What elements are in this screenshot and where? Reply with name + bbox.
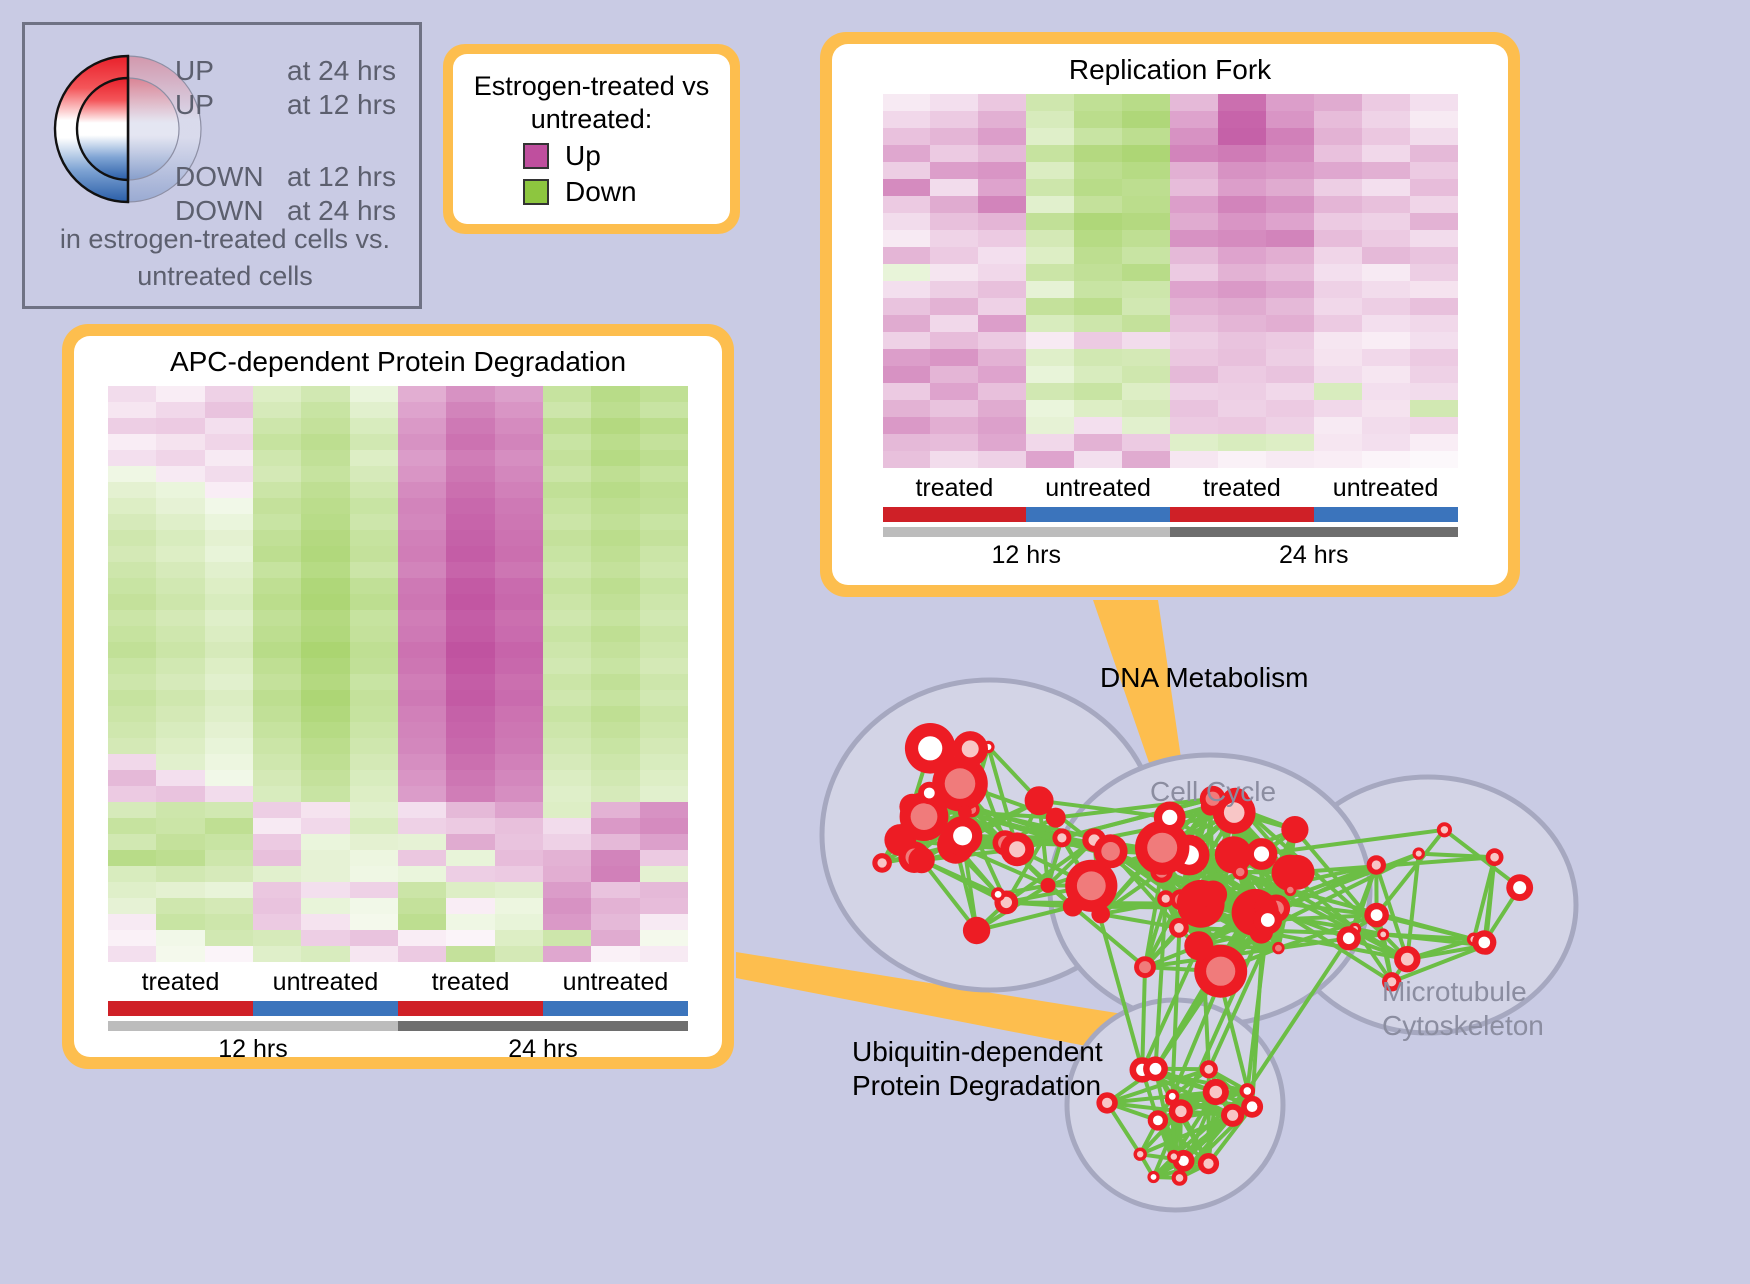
heatmap-cell (1410, 111, 1458, 128)
heatmap-cell (883, 349, 931, 366)
heatmap-cell (591, 722, 639, 738)
cluster-label-dna-metabolism: DNA Metabolism (1100, 662, 1309, 694)
heatmap-cell (591, 946, 639, 962)
heatmap-cell (301, 818, 349, 834)
heatmap-cell (205, 434, 253, 450)
heatmap-cell (205, 770, 253, 786)
heatmap-cell (108, 786, 156, 802)
heatmap-cell (253, 850, 301, 866)
condition-bar-segment (108, 1001, 253, 1016)
heatmap-cell (108, 658, 156, 674)
heatmap-cell (301, 738, 349, 754)
heatmap-cell (543, 898, 591, 914)
heatmap-cell (543, 658, 591, 674)
heatmap-cell (156, 898, 204, 914)
heatmap-cell (1170, 94, 1218, 111)
heatmap-cell (1410, 179, 1458, 196)
heatmap-cell (591, 562, 639, 578)
updown-legend-box: Estrogen-treated vs untreated: Up Down (443, 44, 740, 234)
heatmap-cell (1314, 298, 1362, 315)
heatmap-cell (883, 111, 931, 128)
heatmap-cell (978, 400, 1026, 417)
network-node-core (1490, 853, 1499, 862)
heatmap-cell (978, 349, 1026, 366)
heatmap-cell (446, 418, 494, 434)
heatmap-cell (1266, 264, 1314, 281)
network-node[interactable] (1281, 816, 1308, 843)
heatmap-cell (543, 562, 591, 578)
heatmap-cell (495, 690, 543, 706)
heatmap-cell (978, 417, 1026, 434)
heatmap-cell (1314, 383, 1362, 400)
heatmap-cell (543, 802, 591, 818)
heatmap-cell (640, 770, 688, 786)
heatmap-cell (1362, 451, 1410, 468)
heatmap-cell (301, 770, 349, 786)
heatmap-cell (301, 914, 349, 930)
heatmap-cell (1122, 383, 1170, 400)
heatmap-cell (301, 850, 349, 866)
heatmap-cell (495, 450, 543, 466)
heatmap-cell (156, 642, 204, 658)
heatmap-cell (1218, 349, 1266, 366)
network-node-core (1244, 1087, 1252, 1095)
heatmap-cell (640, 514, 688, 530)
heatmap-cell (495, 578, 543, 594)
heatmap-cell (156, 818, 204, 834)
heatmap-cell (301, 514, 349, 530)
heatmap-cell (253, 770, 301, 786)
time-bar-segment (1170, 527, 1458, 537)
heatmap-cell (1362, 128, 1410, 145)
heatmap-cell (205, 418, 253, 434)
network-node[interactable] (1280, 855, 1315, 890)
network-node-core (1175, 1106, 1186, 1117)
network-node-core (1287, 887, 1294, 894)
heatmap-cell (1074, 128, 1122, 145)
heatmap-cell (640, 898, 688, 914)
heatmap-cell (1266, 349, 1314, 366)
heatmap-cell (978, 213, 1026, 230)
heatmap-cell (591, 386, 639, 402)
network-node[interactable] (963, 917, 990, 944)
network-node[interactable] (1041, 878, 1056, 893)
heatmap-cell (495, 642, 543, 658)
heatmap-cell (591, 802, 639, 818)
heatmap-cell (446, 434, 494, 450)
heatmap-cell (1122, 111, 1170, 128)
heatmap-cell (350, 802, 398, 818)
heatmap-cell (156, 930, 204, 946)
network-node-core (1372, 860, 1381, 869)
network-node-core (953, 826, 972, 845)
heatmap-cell (1314, 213, 1362, 230)
heatmap-cell (253, 674, 301, 690)
heatmap-cell (108, 930, 156, 946)
heatmap-cell (543, 402, 591, 418)
heatmap-cell (205, 738, 253, 754)
heatmap-cell (1122, 128, 1170, 145)
heatmap-cell (350, 706, 398, 722)
heatmap-cell (883, 264, 931, 281)
network-node[interactable] (1025, 786, 1054, 815)
time-label: 12 hrs (108, 1031, 398, 1064)
heatmap-cell (930, 196, 978, 213)
network-node-core (1206, 957, 1235, 986)
heatmap-cell (543, 738, 591, 754)
heatmap-cell (446, 754, 494, 770)
heatmap-cell (1362, 264, 1410, 281)
heatmap-cell (1074, 383, 1122, 400)
heatmap-cell (543, 482, 591, 498)
heatmap-cell (108, 770, 156, 786)
heatmap-cell (640, 914, 688, 930)
heatmap-cell (1410, 145, 1458, 162)
heatmap-cell (930, 315, 978, 332)
heatmap-cell (495, 658, 543, 674)
heatmap-cell (640, 866, 688, 882)
heatmap-cell (1410, 332, 1458, 349)
network-node-core (1247, 1101, 1258, 1112)
heatmap-cell (301, 866, 349, 882)
direction-label: UP (175, 55, 287, 87)
heatmap-cell (591, 786, 639, 802)
heatmap-cell (446, 786, 494, 802)
heatmap-cell (591, 642, 639, 658)
heatmap-cell (930, 349, 978, 366)
heatmap-cell (1314, 264, 1362, 281)
heatmap-cell (640, 466, 688, 482)
heatmap-cell (978, 451, 1026, 468)
heatmap-cell (398, 706, 446, 722)
time-bar-segment (883, 527, 1171, 537)
heatmap-cell (930, 230, 978, 247)
heatmap-cell (640, 706, 688, 722)
heatmap-cell (1170, 383, 1218, 400)
heatmap-cell (640, 594, 688, 610)
heatmap-cell (978, 179, 1026, 196)
heatmap-cell (591, 930, 639, 946)
heatmap-cell (156, 610, 204, 626)
heatmap-cell (543, 546, 591, 562)
heatmap-cell (1026, 128, 1074, 145)
heatmap-cell (108, 530, 156, 546)
heatmap-cell (446, 674, 494, 690)
heatmap-cell (1026, 349, 1074, 366)
heatmap-cell (301, 706, 349, 722)
heatmap-cell (1362, 162, 1410, 179)
heatmap-cell (640, 482, 688, 498)
heatmap-cell (591, 402, 639, 418)
heatmap-cell (1122, 400, 1170, 417)
heatmap-replication-fork (883, 94, 1458, 468)
heatmap-cell (446, 770, 494, 786)
heatmap-cell (1362, 213, 1410, 230)
heatmap-cell (640, 738, 688, 754)
heatmap-cell (108, 802, 156, 818)
heatmap-cell (398, 610, 446, 626)
heatmap-cell (1266, 366, 1314, 383)
heatmap-cell (301, 418, 349, 434)
heatmap-cell (640, 450, 688, 466)
heatmap-cell (253, 930, 301, 946)
heatmap-cell (543, 466, 591, 482)
heatmap-cell (301, 642, 349, 658)
heatmap-cell (205, 866, 253, 882)
heatmap-cell (591, 898, 639, 914)
heatmap-cell (883, 383, 931, 400)
heatmap-cell (495, 930, 543, 946)
heatmap-cell (1410, 264, 1458, 281)
heatmap-cell (301, 434, 349, 450)
heatmap-cell (446, 562, 494, 578)
heatmap-cell (1266, 111, 1314, 128)
heatmap-cell (1170, 417, 1218, 434)
heatmap-cell (446, 658, 494, 674)
heatmap-cell (543, 866, 591, 882)
heatmap-cell (1026, 264, 1074, 281)
heatmap-cell (350, 866, 398, 882)
network-node[interactable] (1063, 897, 1083, 917)
cluster-label-microtubule-cytoskeleton: Microtubule Cytoskeleton (1382, 975, 1544, 1043)
heatmap-cell (253, 562, 301, 578)
heatmap-cell (398, 834, 446, 850)
heatmap-cell (978, 315, 1026, 332)
heatmap-cell (640, 546, 688, 562)
network-node-core (1380, 932, 1386, 938)
heatmap-cell (350, 402, 398, 418)
heatmap-cell (1026, 451, 1074, 468)
heatmap-cell (1362, 196, 1410, 213)
heatmap-cell (156, 946, 204, 962)
heatmap-cell (883, 366, 931, 383)
heatmap-cell (978, 434, 1026, 451)
condition-labels: treated untreated treated untreated (108, 962, 688, 1001)
heatmap-cell (930, 213, 978, 230)
heatmap-cell (640, 882, 688, 898)
heatmap-cell (446, 386, 494, 402)
heatmap-cell (108, 450, 156, 466)
heatmap-cell (1410, 366, 1458, 383)
heatmap-cell (1170, 179, 1218, 196)
heatmap-cell (640, 434, 688, 450)
heatmap-cell (495, 418, 543, 434)
heatmap-cell (350, 450, 398, 466)
heatmap-cell (495, 946, 543, 962)
heatmap-cell (495, 834, 543, 850)
heatmap-cell (253, 514, 301, 530)
heatmap-cell (1026, 247, 1074, 264)
heatmap-cell (398, 402, 446, 418)
heatmap-cell (930, 179, 978, 196)
heatmap-cell (543, 786, 591, 802)
heatmap-cell (1362, 417, 1410, 434)
heatmap-cell (930, 298, 978, 315)
heatmap-cell (495, 786, 543, 802)
heatmap-cell (108, 402, 156, 418)
heatmap-cell (1410, 196, 1458, 213)
heatmap-cell (108, 434, 156, 450)
heatmap-cell (1362, 247, 1410, 264)
heatmap-cell (108, 562, 156, 578)
heatmap-cell (1410, 298, 1458, 315)
heatmap-cell (205, 514, 253, 530)
heatmap-cell (1074, 349, 1122, 366)
heatmap-cell (350, 818, 398, 834)
heatmap-cell (1122, 247, 1170, 264)
heatmap-cell (301, 562, 349, 578)
heatmap-cell (1026, 281, 1074, 298)
heatmap-cell (1410, 94, 1458, 111)
heatmap-cell (205, 834, 253, 850)
condition-label: untreated (253, 962, 398, 1001)
heatmap-cell (1410, 434, 1458, 451)
heatmap-cell (1074, 111, 1122, 128)
heatmap-cell (205, 898, 253, 914)
heatmap-cell (1122, 94, 1170, 111)
network-node-core (877, 858, 886, 867)
heatmap-cell (446, 466, 494, 482)
heatmap-cell (301, 882, 349, 898)
network-node[interactable] (1184, 931, 1213, 960)
heatmap-cell (640, 930, 688, 946)
heatmap-cell (301, 834, 349, 850)
heatmap-cell (1218, 434, 1266, 451)
heatmap-cell (495, 514, 543, 530)
heatmap-cell (1170, 315, 1218, 332)
network-node-core (918, 736, 942, 760)
heatmap-cell (1026, 179, 1074, 196)
heatmap-cell (1026, 417, 1074, 434)
heatmap-cell (350, 898, 398, 914)
heatmap-cell (640, 802, 688, 818)
network-node-core (962, 740, 979, 757)
heatmap-cell (205, 674, 253, 690)
heatmap-cell (156, 802, 204, 818)
condition-bar-segment (883, 507, 1027, 522)
heatmap-cell (1314, 247, 1362, 264)
heatmap-cell (156, 834, 204, 850)
heatmap-cell (446, 610, 494, 626)
heatmap-cell (301, 898, 349, 914)
heatmap-cell (253, 898, 301, 914)
heatmap-cell (446, 818, 494, 834)
heatmap-cell (1026, 434, 1074, 451)
heatmap-cell (446, 642, 494, 658)
heatmap-cell (1218, 162, 1266, 179)
network-node-core (1203, 1159, 1213, 1169)
panel-title-replication-fork: Replication Fork (1069, 54, 1271, 86)
heatmap-axis-replication: treated untreated treated untreated (883, 468, 1458, 570)
heatmap-cell (1314, 230, 1362, 247)
heatmap-cell (1026, 94, 1074, 111)
network-node-core (1204, 1065, 1213, 1074)
heatmap-cell (253, 434, 301, 450)
heatmap-cell (253, 482, 301, 498)
heatmap-cell (156, 402, 204, 418)
heatmap-cell (1314, 349, 1362, 366)
heatmap-cell (978, 264, 1026, 281)
figure-canvas: UP at 24 hrs UP at 12 hrs DOWN at 12 hrs… (0, 0, 1750, 1279)
heatmap-cell (108, 898, 156, 914)
heatmap-cell (108, 722, 156, 738)
heatmap-cell (1410, 349, 1458, 366)
heatmap-cell (350, 786, 398, 802)
network-node[interactable] (958, 805, 972, 819)
heatmap-cell (640, 642, 688, 658)
heatmap-cell (1170, 213, 1218, 230)
heatmap-cell (591, 594, 639, 610)
heatmap-cell (446, 402, 494, 418)
heatmap-cell (301, 802, 349, 818)
panel-replication-fork: Replication Fork treated untreated treat… (820, 32, 1520, 597)
heatmap-cell (1410, 213, 1458, 230)
pathway-network-diagram: DNA Metabolism Cell Cycle Microtubule Cy… (790, 600, 1750, 1279)
heatmap-cell (301, 930, 349, 946)
heatmap-cell (205, 562, 253, 578)
heatmap-cell (978, 230, 1026, 247)
heatmap-cell (930, 128, 978, 145)
heatmap-cell (350, 930, 398, 946)
heatmap-cell (156, 674, 204, 690)
heatmap-cell (350, 946, 398, 962)
heatmap-cell (1266, 281, 1314, 298)
condition-bar-segment (253, 1001, 398, 1016)
network-node-core (1171, 1153, 1177, 1159)
heatmap-cell (108, 946, 156, 962)
heatmap-cell (591, 434, 639, 450)
heatmap-cell (543, 386, 591, 402)
heatmap-cell (108, 594, 156, 610)
heatmap-cell (1362, 179, 1410, 196)
heatmap-cell (108, 418, 156, 434)
network-node-core (1371, 909, 1383, 921)
heatmap-cell (398, 818, 446, 834)
heatmap-cell (543, 498, 591, 514)
direction-label: UP (175, 89, 287, 121)
heatmap-cell (156, 434, 204, 450)
heatmap-cell (883, 94, 931, 111)
heatmap-cell (446, 578, 494, 594)
heatmap-cell (1122, 281, 1170, 298)
network-edge (1142, 967, 1145, 1070)
network-node[interactable] (908, 847, 934, 873)
heatmap-cell (1074, 247, 1122, 264)
heatmap-cell (398, 418, 446, 434)
heatmap-cell (398, 770, 446, 786)
heatmap-cell (253, 786, 301, 802)
heatmap-cell (1314, 196, 1362, 213)
heatmap-cell (543, 818, 591, 834)
network-node[interactable] (1199, 881, 1227, 909)
heatmap-cell (543, 514, 591, 530)
heatmap-cell (253, 722, 301, 738)
network-node[interactable] (1091, 905, 1110, 924)
heatmap-cell (1218, 179, 1266, 196)
heatmap-cell (446, 898, 494, 914)
heatmap-cell (108, 834, 156, 850)
heatmap-cell (253, 738, 301, 754)
heatmap-cell (253, 834, 301, 850)
heatmap-cell (640, 418, 688, 434)
heatmap-cell (446, 722, 494, 738)
heatmap-cell (205, 914, 253, 930)
heatmap-cell (350, 642, 398, 658)
condition-bar-segment (1314, 507, 1458, 522)
heatmap-cell (1074, 264, 1122, 281)
heatmap-cell (398, 738, 446, 754)
heatmap-cell (156, 450, 204, 466)
